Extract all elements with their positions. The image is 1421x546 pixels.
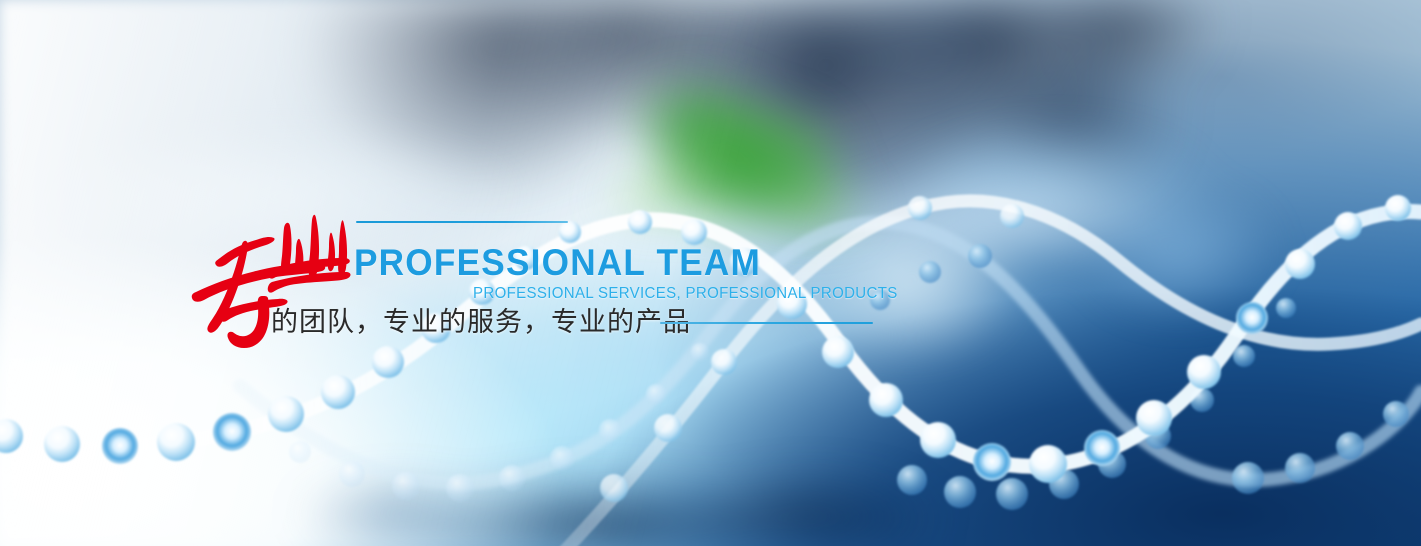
decorative-rule-bottom bbox=[660, 322, 873, 324]
chinese-tagline: 的团队，专业的服务，专业的产品 bbox=[271, 306, 691, 340]
banner-copy-block: 专业 bbox=[0, 0, 1421, 546]
decorative-rule-top bbox=[356, 221, 568, 223]
subheadline-services-products: PROFESSIONAL SERVICES, PROFESSIONAL PROD… bbox=[473, 285, 898, 303]
headline-professional-team: PROFESSIONAL TEAM bbox=[354, 243, 761, 283]
promo-banner: 专业 bbox=[0, 0, 1421, 546]
